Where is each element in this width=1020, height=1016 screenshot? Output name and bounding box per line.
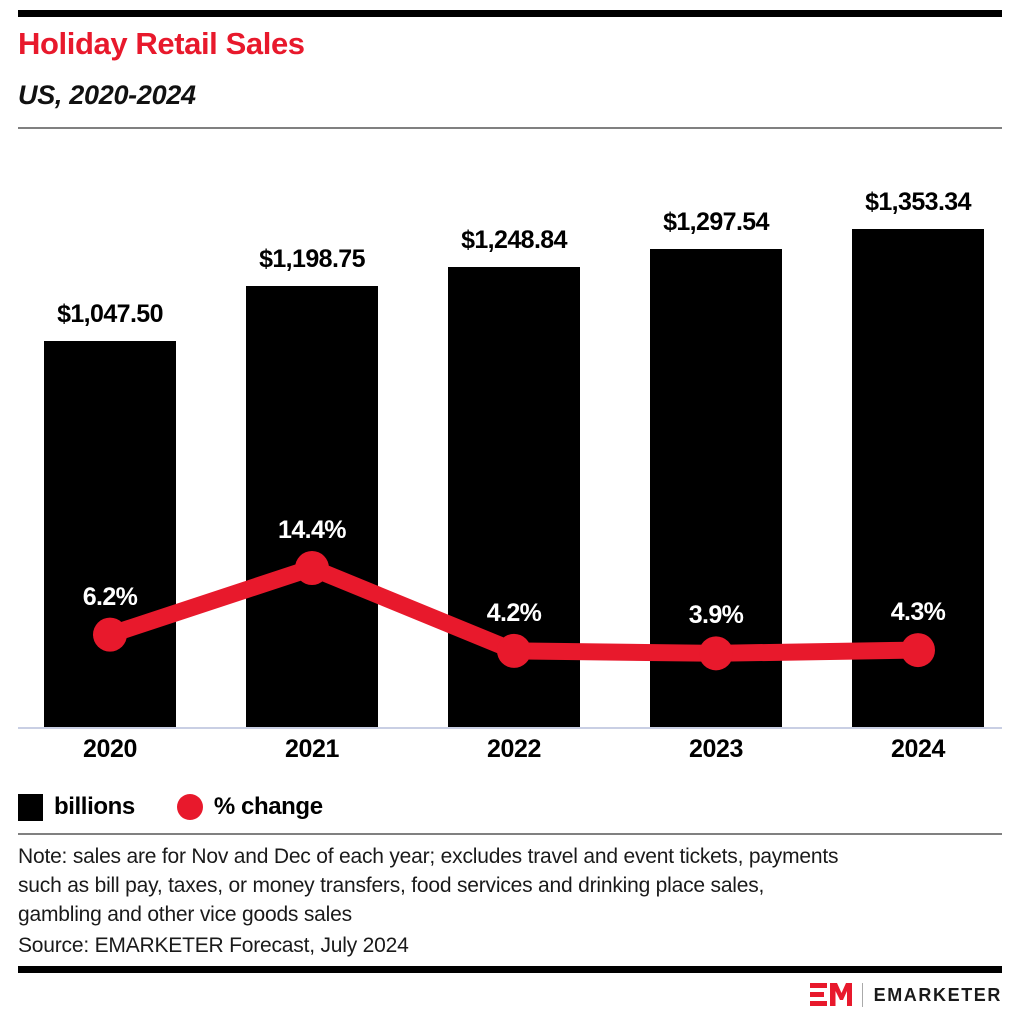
legend-item-pct-change: % change xyxy=(177,793,323,821)
line-marker-2020 xyxy=(93,618,127,652)
percent-change-line-series xyxy=(0,140,1020,732)
page-subtitle: US, 2020-2024 xyxy=(18,80,196,111)
footnotes: Note: sales are for Nov and Dec of each … xyxy=(18,842,978,960)
header-divider xyxy=(18,127,1002,129)
top-rule xyxy=(18,10,1002,17)
x-tick-2024: 2024 xyxy=(818,735,1018,764)
pct-value-label: 4.2% xyxy=(414,599,614,628)
note-line: gambling and other vice goods sales xyxy=(18,900,978,929)
x-tick-2022: 2022 xyxy=(414,735,614,764)
pct-value-label: 3.9% xyxy=(616,601,816,630)
note-line: such as bill pay, taxes, or money transf… xyxy=(18,871,978,900)
em-logomark-icon xyxy=(810,982,852,1008)
chart-plot-area: $1,047.50 $1,198.75 $1,248.84 $1,297.54 … xyxy=(0,140,1020,732)
line-marker-2021 xyxy=(295,551,329,585)
legend-divider xyxy=(18,833,1002,835)
x-tick-2023: 2023 xyxy=(616,735,816,764)
x-axis-labels: 2020 2021 2022 2023 2024 xyxy=(0,735,1020,775)
pct-value-label: 4.3% xyxy=(818,598,1018,627)
source-line: Source: EMARKETER Forecast, July 2024 xyxy=(18,931,978,960)
legend-item-billions: billions xyxy=(18,793,135,821)
x-tick-2020: 2020 xyxy=(10,735,210,764)
pct-value-label: 14.4% xyxy=(212,516,412,545)
circle-swatch-icon xyxy=(177,794,203,820)
brand-wordmark: EMARKETER xyxy=(874,985,1002,1006)
line-marker-2022 xyxy=(497,634,531,668)
footer-rule xyxy=(18,966,1002,973)
note-line: Note: sales are for Nov and Dec of each … xyxy=(18,842,978,871)
legend-label: billions xyxy=(54,793,135,821)
logo-divider xyxy=(862,983,863,1007)
legend-label: % change xyxy=(214,793,323,821)
x-tick-2021: 2021 xyxy=(212,735,412,764)
line-marker-2023 xyxy=(699,636,733,670)
pct-value-label: 6.2% xyxy=(10,583,210,612)
line-marker-2024 xyxy=(901,633,935,667)
emarketer-logo: EMARKETER xyxy=(810,981,1002,1009)
chart-legend: billions % change xyxy=(18,790,365,824)
page-title: Holiday Retail Sales xyxy=(18,26,305,62)
square-swatch-icon xyxy=(18,794,43,821)
